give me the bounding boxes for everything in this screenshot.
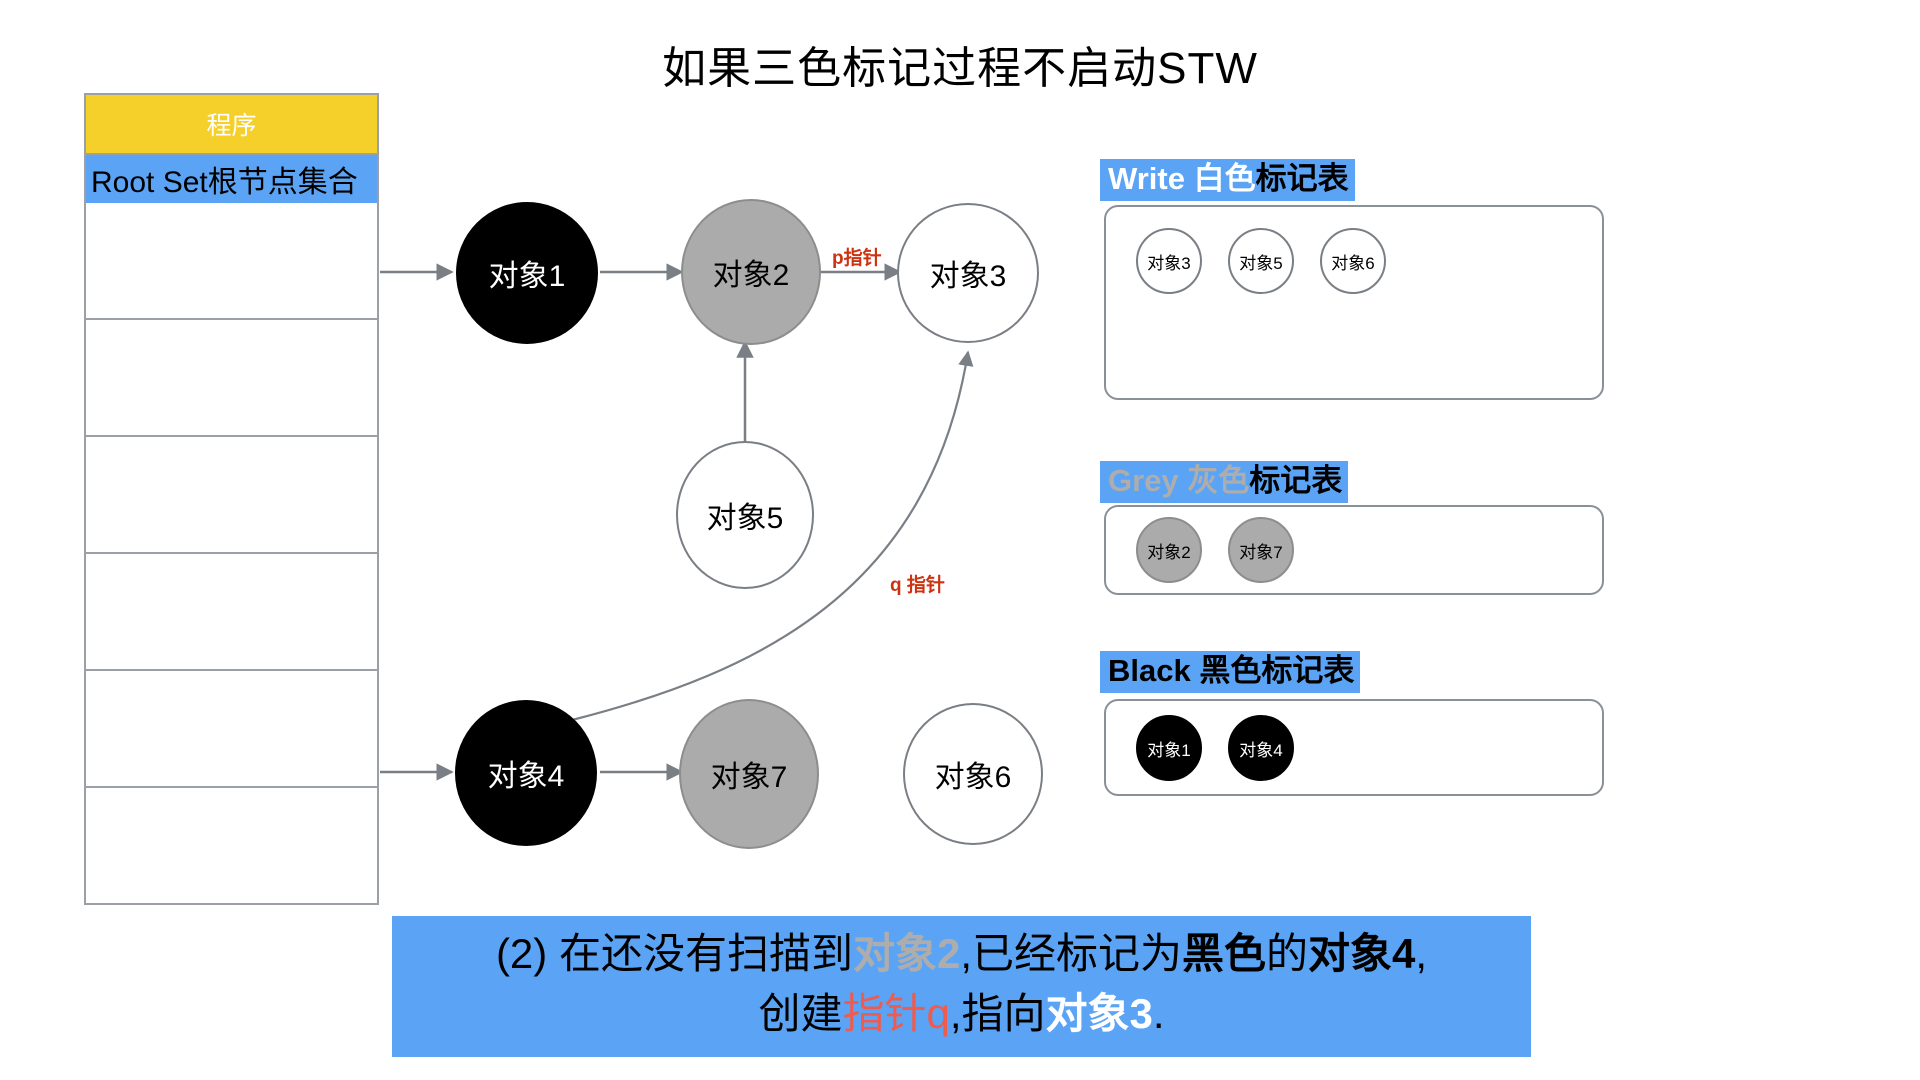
graph-node-label: 对象3 bbox=[930, 251, 1007, 295]
graph-node-obj6[interactable]: 对象6 bbox=[903, 703, 1043, 845]
caption-text: ,已经标记为 bbox=[960, 930, 1182, 977]
mark-color-word: 灰色 bbox=[1187, 463, 1249, 498]
mark-chip-label: 对象2 bbox=[1147, 538, 1190, 563]
mark-keyword: Write bbox=[1108, 161, 1185, 196]
graph-node-obj4[interactable]: 对象4 bbox=[455, 700, 597, 846]
graph-node-obj3[interactable]: 对象3 bbox=[897, 203, 1039, 343]
mark-chip-obj1[interactable]: 对象1 bbox=[1136, 715, 1202, 781]
mark-keyword: Black bbox=[1108, 653, 1191, 688]
caption-line-2: 创建指针q,指向对象3. bbox=[392, 984, 1531, 1044]
table-row bbox=[84, 671, 379, 788]
caption-banner: (2) 在还没有扫描到对象2,已经标记为黑色的对象4, 创建指针q,指向对象3. bbox=[392, 916, 1531, 1057]
pointer-label-p: p指针 bbox=[832, 243, 882, 270]
mark-chip-obj2[interactable]: 对象2 bbox=[1136, 517, 1202, 583]
program-table: 程序 Root Set根节点集合 bbox=[84, 93, 379, 905]
graph-node-obj7[interactable]: 对象7 bbox=[679, 699, 819, 849]
graph-node-label: 对象1 bbox=[489, 251, 566, 295]
mark-chip-label: 对象3 bbox=[1147, 249, 1190, 274]
mark-chip-label: 对象6 bbox=[1331, 249, 1374, 274]
caption-text: , bbox=[1415, 930, 1427, 977]
mark-table-title-grey: Grey 灰色标记表 bbox=[1100, 461, 1348, 503]
caption-obj3: 对象3 bbox=[1046, 990, 1153, 1037]
mark-color-word: 白色 bbox=[1194, 161, 1256, 196]
mark-keyword: Grey bbox=[1108, 463, 1179, 498]
mark-chip-label: 对象7 bbox=[1239, 538, 1282, 563]
caption-obj2: 对象2 bbox=[853, 930, 960, 977]
graph-node-obj1[interactable]: 对象1 bbox=[456, 202, 598, 344]
graph-node-label: 对象7 bbox=[711, 752, 788, 796]
mark-table-title-black: Black 黑色标记表 bbox=[1100, 651, 1360, 693]
mark-chip-label: 对象5 bbox=[1239, 249, 1282, 274]
mark-chip-obj4[interactable]: 对象4 bbox=[1228, 715, 1294, 781]
mark-color-word: 黑色 bbox=[1199, 653, 1261, 688]
caption-text: 创建 bbox=[758, 990, 842, 1037]
table-row bbox=[84, 203, 379, 320]
graph-node-obj2[interactable]: 对象2 bbox=[681, 199, 821, 345]
caption-pointer-q: 指针q bbox=[842, 990, 949, 1037]
graph-node-obj5[interactable]: 对象5 bbox=[676, 441, 814, 589]
caption-black-word: 黑色 bbox=[1182, 930, 1266, 977]
mark-suffix: 标记表 bbox=[1249, 463, 1342, 498]
table-row bbox=[84, 437, 379, 554]
page-title: 如果三色标记过程不启动STW bbox=[0, 32, 1920, 96]
program-table-header: 程序 bbox=[84, 93, 379, 155]
caption-text: ,指向 bbox=[950, 990, 1046, 1037]
mark-chip-label: 对象4 bbox=[1239, 736, 1282, 761]
mark-chip-obj7[interactable]: 对象7 bbox=[1228, 517, 1294, 583]
caption-text: (2) 在还没有扫描到 bbox=[496, 930, 853, 977]
caption-obj4: 对象4 bbox=[1308, 930, 1415, 977]
graph-node-label: 对象2 bbox=[713, 250, 790, 294]
mark-chip-label: 对象1 bbox=[1147, 736, 1190, 761]
slide-canvas: 如果三色标记过程不启动STW 程序 Root Set根节点集合 bbox=[0, 0, 1920, 1080]
graph-node-label: 对象6 bbox=[935, 752, 1012, 796]
table-row bbox=[84, 320, 379, 437]
root-set-row: Root Set根节点集合 bbox=[84, 155, 379, 203]
table-row bbox=[84, 554, 379, 671]
pointer-label-q: q 指针 bbox=[890, 570, 945, 597]
table-row bbox=[84, 788, 379, 905]
mark-chip-obj3[interactable]: 对象3 bbox=[1136, 228, 1202, 294]
caption-text: 的 bbox=[1266, 930, 1308, 977]
mark-suffix: 标记表 bbox=[1261, 653, 1354, 688]
mark-chip-obj5[interactable]: 对象5 bbox=[1228, 228, 1294, 294]
graph-node-label: 对象5 bbox=[707, 493, 784, 537]
graph-node-label: 对象4 bbox=[488, 751, 565, 795]
caption-text: . bbox=[1153, 990, 1165, 1037]
mark-suffix: 标记表 bbox=[1256, 161, 1349, 196]
mark-table-title-white: Write 白色标记表 bbox=[1100, 159, 1355, 201]
mark-chip-obj6[interactable]: 对象6 bbox=[1320, 228, 1386, 294]
caption-line-1: (2) 在还没有扫描到对象2,已经标记为黑色的对象4, bbox=[392, 924, 1531, 984]
